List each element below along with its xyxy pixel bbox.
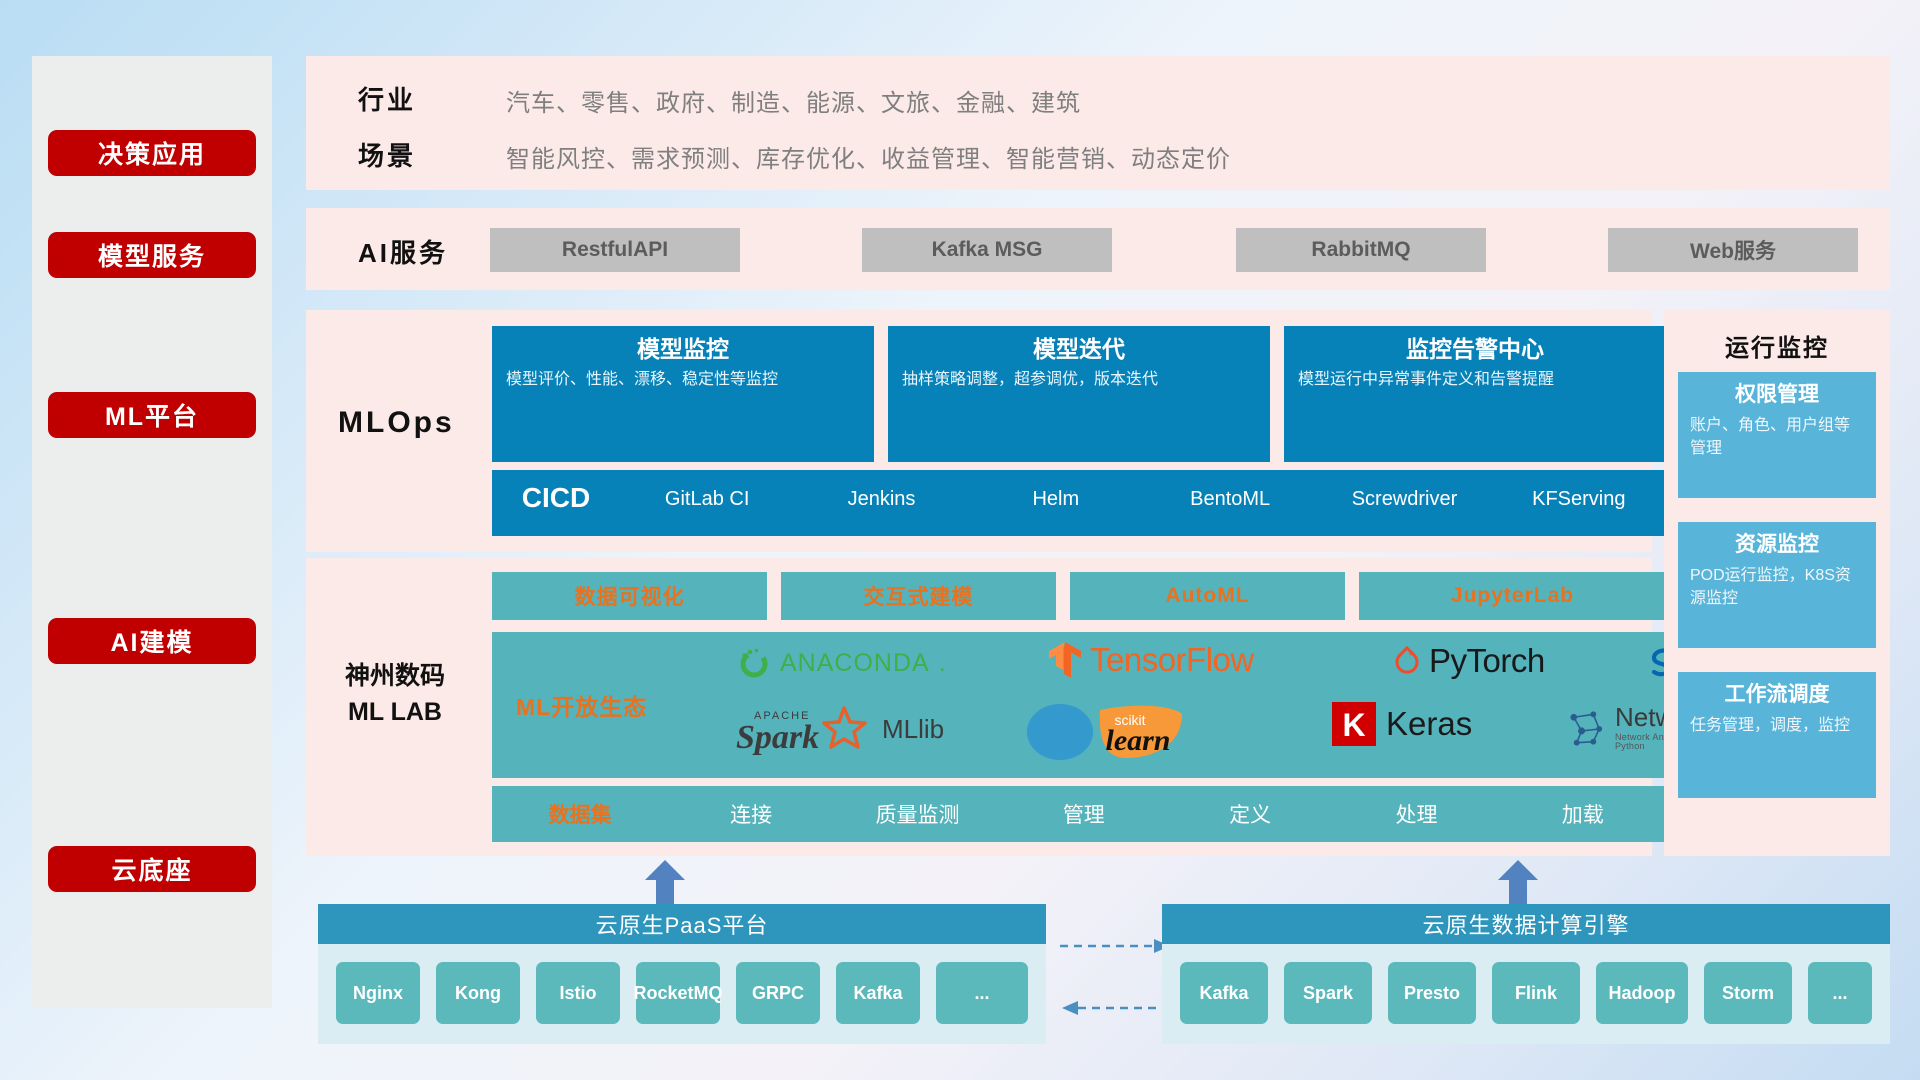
service-chip-web[interactable]: Web服务 [1608,228,1858,272]
cloud-chip-more[interactable]: ... [936,962,1028,1024]
cloud-data-engine-body: Kafka Spark Presto Flink Hadoop Storm ..… [1162,944,1890,1044]
cloud-paas-title: 云原生PaaS平台 [318,904,1046,944]
anaconda-logo-text: ANACONDA [780,649,930,678]
engine-chip-kafka[interactable]: Kafka [1180,962,1268,1024]
monitoring-card-workflow[interactable]: 工作流调度 任务管理，调度，监控 [1678,672,1876,798]
dataset-bar: 数据集 连接 质量监测 管理 定义 处理 加载 [492,786,1666,842]
mlops-card-model-monitoring[interactable]: 模型监控 模型评价、性能、漂移、稳定性等监控 [492,326,874,462]
svg-text:Spark: Spark [736,719,819,756]
dashed-arrow-right-icon [1060,938,1172,954]
keras-mark-icon: K [1332,702,1376,746]
anaconda-ring-icon [737,646,771,680]
dataset-item-define[interactable]: 定义 [1167,799,1333,829]
monitoring-card-desc: 账户、角色、用户组等管理 [1690,414,1864,460]
layer-rail: 决策应用 模型服务 ML平台 AI建模 云底座 [32,56,272,1008]
dataset-title: 数据集 [492,799,668,829]
engine-chip-flink[interactable]: Flink [1492,962,1580,1024]
cloud-chip-rocketmq[interactable]: RocketMQ [636,962,720,1024]
mlops-card-desc: 模型评价、性能、漂移、稳定性等监控 [506,368,860,392]
ai-service-label: AI服务 [358,233,448,270]
cloud-data-engine-title: 云原生数据计算引擎 [1162,904,1890,944]
cicd-item-helm[interactable]: Helm [969,470,1143,512]
ai-modeling-band: 神州数码 ML LAB 数据可视化 交互式建模 AutoML JupyterLa… [306,558,1652,856]
scenario-label: 场景 [358,136,416,173]
mllib-logo-text: MLlib [882,714,944,745]
pytorch-flame-icon [1392,644,1422,678]
cicd-item-jenkins[interactable]: Jenkins [794,470,968,512]
cloud-paas-body: Nginx Kong Istio RocketMQ GRPC Kafka ... [318,944,1046,1044]
mlops-card-title: 模型迭代 [902,334,1256,364]
pytorch-logo: PyTorch [1392,642,1545,680]
cicd-item-kfserving[interactable]: KFServing [1492,470,1666,512]
monitoring-card-resources[interactable]: 资源监控 POD运行监控，K8S资源监控 [1678,522,1876,648]
cicd-title: CICD [492,470,620,514]
industry-label: 行业 [358,80,416,117]
networkx-graph-icon [1564,707,1607,749]
application-band: 行业 汽车、零售、政府、制造、能源、文旅、金融、建筑 场景 智能风控、需求预测、… [306,56,1890,190]
dataset-item-manage[interactable]: 管理 [1001,799,1167,829]
cloud-paas-group: 云原生PaaS平台 Nginx Kong Istio RocketMQ GRPC… [318,904,1046,1050]
cloud-data-engine-group: 云原生数据计算引擎 Kafka Spark Presto Flink Hadoo… [1162,904,1890,1050]
tensorflow-mark-icon [1047,640,1083,680]
service-chip-restfulapi[interactable]: RestfulAPI [490,228,740,272]
modeling-chip-interactive[interactable]: 交互式建模 [781,572,1056,620]
modeling-chip-data-viz[interactable]: 数据可视化 [492,572,767,620]
mlops-label: MLOps [338,406,455,440]
dataset-item-quality[interactable]: 质量监测 [834,799,1000,829]
svg-text:learn: learn [1105,724,1170,757]
scenario-value: 智能风控、需求预测、库存优化、收益管理、智能营销、动态定价 [506,139,1231,174]
service-chip-rabbitmq[interactable]: RabbitMQ [1236,228,1486,272]
mlops-card-title: 监控告警中心 [1298,334,1652,364]
ml-lab-line2: ML LAB [320,694,470,730]
keras-logo: K Keras [1332,702,1472,746]
cicd-item-screwdriver[interactable]: Screwdriver [1317,470,1491,512]
engine-chip-spark[interactable]: Spark [1284,962,1372,1024]
mlops-card-desc: 抽样策略调整，超参调优，版本迭代 [902,368,1256,392]
monitoring-title: 运行监控 [1664,328,1890,363]
cloud-chip-kong[interactable]: Kong [436,962,520,1024]
monitoring-card-desc: 任务管理，调度，监控 [1690,714,1864,737]
up-arrow-paas-icon [642,858,688,904]
tensorflow-logo-text: TensorFlow [1090,641,1254,679]
cicd-item-gitlab-ci[interactable]: GitLab CI [620,470,794,512]
mlops-card-model-iteration[interactable]: 模型迭代 抽样策略调整，超参调优，版本迭代 [888,326,1270,462]
engine-chip-hadoop[interactable]: Hadoop [1596,962,1688,1024]
mlops-card-alert-center[interactable]: 监控告警中心 模型运行中异常事件定义和告警提醒 [1284,326,1666,462]
modeling-chip-automl[interactable]: AutoML [1070,572,1345,620]
monitoring-card-title: 工作流调度 [1690,680,1864,710]
service-chip-kafka-msg[interactable]: Kafka MSG [862,228,1112,272]
engine-chip-presto[interactable]: Presto [1388,962,1476,1024]
anaconda-logo: ANACONDA . [737,646,946,680]
ml-lab-label: 神州数码 ML LAB [320,658,470,730]
scikit-learn-mark-icon: scikit learn [1022,698,1222,760]
cloud-chip-nginx[interactable]: Nginx [336,962,420,1024]
architecture-diagram: 决策应用 模型服务 ML平台 AI建模 云底座 行业 汽车、零售、政府、制造、能… [0,0,1920,1080]
cicd-item-bentoml[interactable]: BentoML [1143,470,1317,512]
dashed-arrow-left-icon [1060,1000,1172,1016]
rail-item-cloud-base[interactable]: 云底座 [48,846,256,892]
scikit-learn-logo: scikit learn [1022,698,1222,765]
monitoring-card-title: 资源监控 [1690,530,1864,560]
cloud-chip-istio[interactable]: Istio [536,962,620,1024]
dataset-item-connect[interactable]: 连接 [668,799,834,829]
ml-lab-line1: 神州数码 [320,658,470,694]
keras-logo-text: Keras [1386,705,1472,743]
monitoring-card-permissions[interactable]: 权限管理 账户、角色、用户组等管理 [1678,372,1876,498]
rail-item-ml-platform[interactable]: ML平台 [48,392,256,438]
mlops-band: MLOps 模型监控 模型评价、性能、漂移、稳定性等监控 模型迭代 抽样策略调整… [306,310,1652,552]
monitoring-column: 运行监控 权限管理 账户、角色、用户组等管理 资源监控 POD运行监控，K8S资… [1664,310,1890,856]
monitoring-card-desc: POD运行监控，K8S资源监控 [1690,564,1864,610]
dataset-item-load[interactable]: 加载 [1500,799,1666,829]
mlops-card-desc: 模型运行中异常事件定义和告警提醒 [1298,368,1652,392]
up-arrow-data-engine-icon [1495,858,1541,904]
networkx-logo: NetworkX Network Analysis in Python [1564,704,1666,751]
apache-spark-mark-icon: APACHE Spark [734,702,874,756]
industry-value: 汽车、零售、政府、制造、能源、文旅、金融、建筑 [506,83,1081,118]
rail-item-decision-app[interactable]: 决策应用 [48,130,256,176]
ai-service-band: AI服务 RestfulAPI Kafka MSG RabbitMQ Web服务 [306,208,1890,290]
modeling-chip-jupyterlab[interactable]: JupyterLab [1359,572,1666,620]
ml-ecosystem-panel: ML开放生态 ANACONDA . TensorFlow [492,632,1666,778]
cicd-bar: CICD GitLab CI Jenkins Helm BentoML Scre… [492,470,1666,536]
tensorflow-logo: TensorFlow [1047,640,1254,680]
dataset-item-process[interactable]: 处理 [1333,799,1499,829]
ml-ecosystem-label: ML开放生态 [516,688,647,722]
cloud-chip-grpc[interactable]: GRPC [736,962,820,1024]
networkx-logo-text: NetworkX [1615,704,1666,730]
networkx-logo-subtext: Network Analysis in Python [1615,733,1666,751]
engine-chip-more[interactable]: ... [1808,962,1872,1024]
engine-chip-storm[interactable]: Storm [1704,962,1792,1024]
mlops-card-title: 模型监控 [506,334,860,364]
monitoring-card-title: 权限管理 [1690,380,1864,410]
svg-text:K: K [1342,707,1365,743]
cloud-chip-kafka[interactable]: Kafka [836,962,920,1024]
rail-item-model-service[interactable]: 模型服务 [48,232,256,278]
pytorch-logo-text: PyTorch [1429,642,1545,680]
rail-item-ai-modeling[interactable]: AI建模 [48,618,256,664]
spark-mllib-logo: APACHE Spark MLlib [734,702,944,756]
